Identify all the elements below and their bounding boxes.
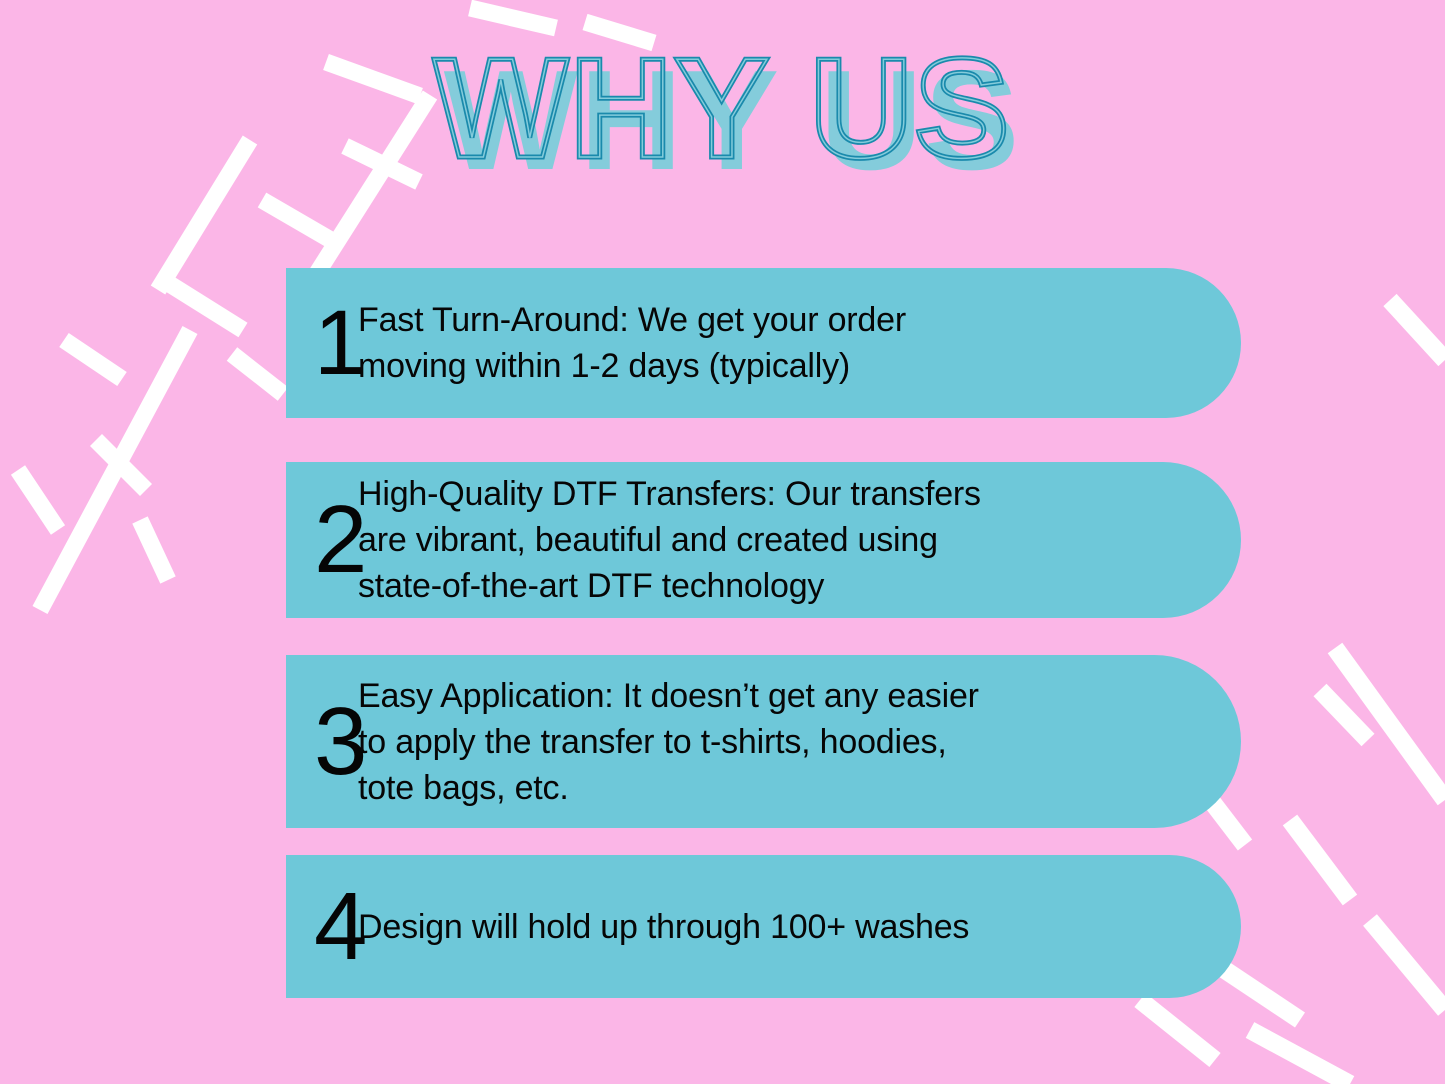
page-title-inner-outline: WHY US [434,38,1011,180]
stripe [232,354,283,394]
stripe [1290,820,1350,900]
stripe [470,8,556,28]
stripe [1250,1030,1350,1084]
benefit-card: 3 Easy Application: It doesn’t get any e… [286,655,1241,828]
benefit-number: 1 [286,297,358,389]
stripe [1335,648,1445,800]
stripe [262,200,336,243]
stripe [1390,300,1445,360]
poster-canvas: WHY US WHY US WHY US 1 Fast Turn-Around:… [0,0,1445,1084]
benefit-text: Design will hold up through 100+ washes [358,904,1241,950]
title-stack: WHY US WHY US WHY US [434,38,1011,180]
benefit-text: Fast Turn-Around: We get your order movi… [358,297,1241,389]
stripe [18,470,58,530]
benefit-number: 4 [286,879,358,975]
benefit-number: 3 [286,694,358,790]
stripe [1140,1000,1215,1060]
stripe [140,520,168,580]
stripe [40,330,190,610]
stripe [1320,690,1368,740]
stripe [1370,920,1445,1010]
benefit-number: 2 [286,492,358,588]
stripe [64,340,122,379]
benefit-text: High-Quality DTF Transfers: Our transfer… [358,471,1241,609]
benefit-card: 4 Design will hold up through 100+ washe… [286,855,1241,998]
benefit-text: Easy Application: It doesn’t get any eas… [358,673,1241,811]
benefit-card: 2 High-Quality DTF Transfers: Our transf… [286,462,1241,618]
stripe [96,440,146,490]
stripe [168,283,243,330]
benefit-card: 1 Fast Turn-Around: We get your order mo… [286,268,1241,418]
title-block: WHY US WHY US WHY US [0,38,1445,198]
